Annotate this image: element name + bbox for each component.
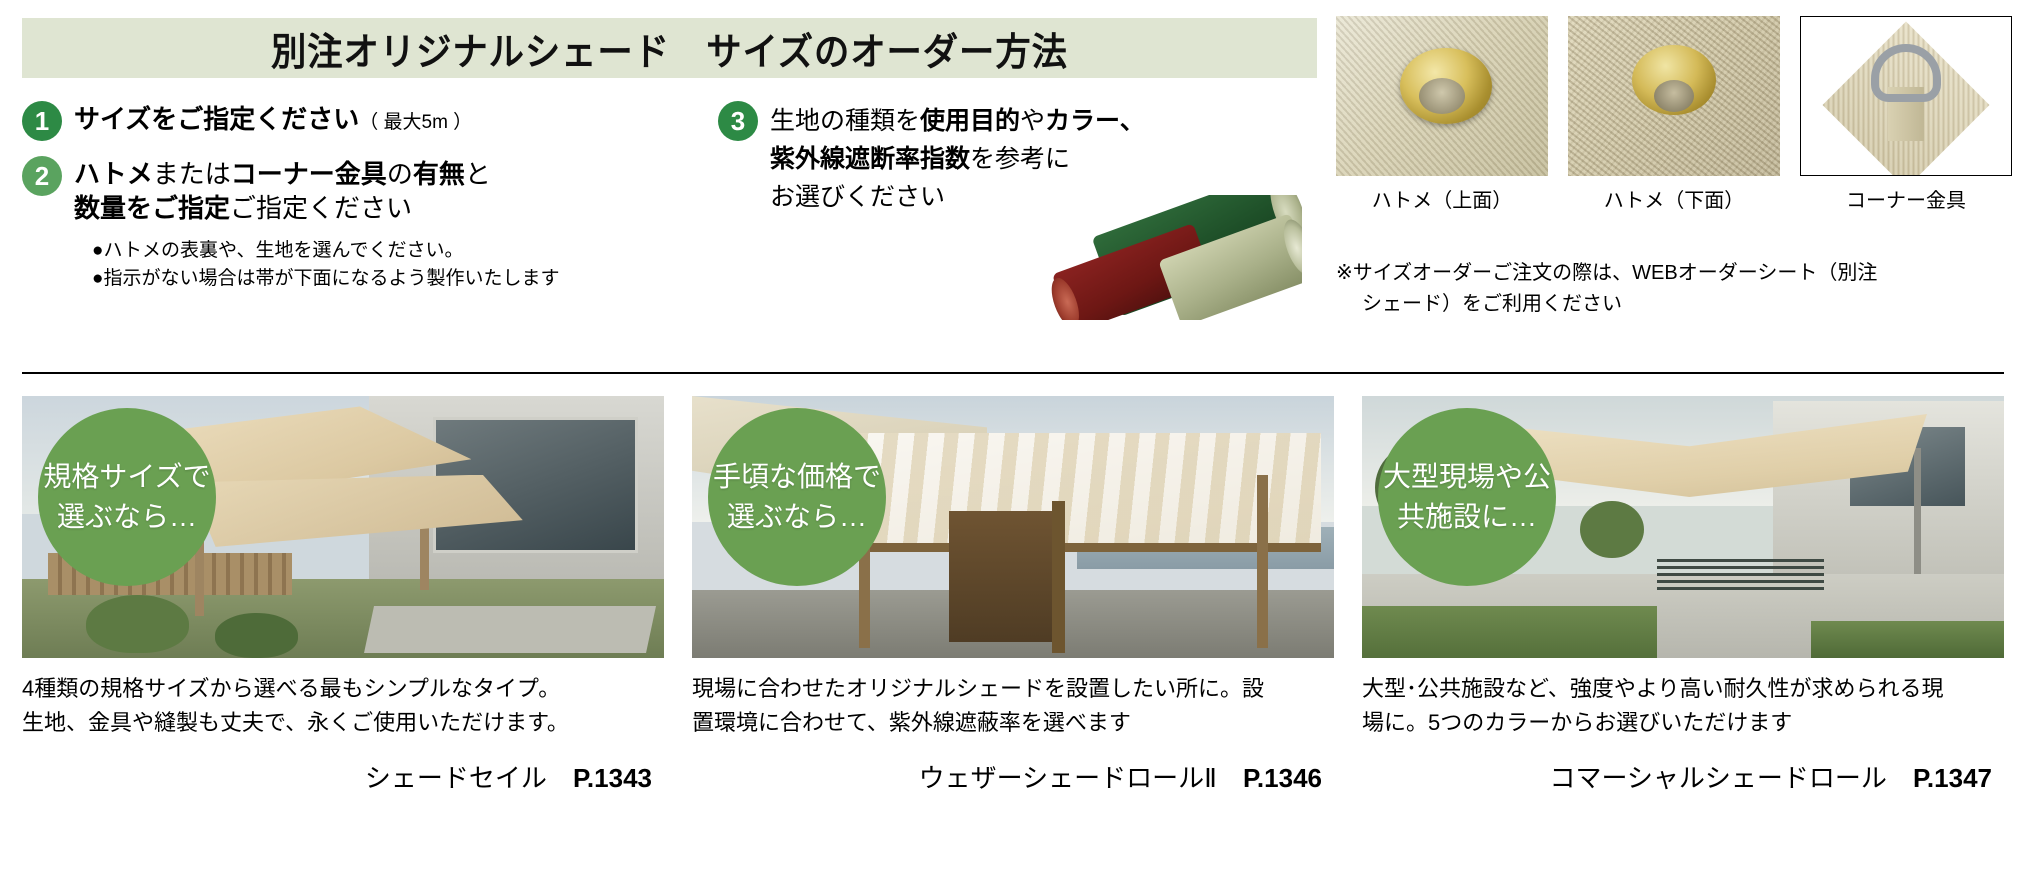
step-3-bold-b: カラー、	[1045, 107, 1145, 135]
hardware-photo-row: ハトメ（上面） ハトメ（下面）	[1336, 16, 2012, 213]
hardware-caption: コーナー金具	[1800, 184, 2012, 213]
product-badge-line-1: 大型現場や公	[1383, 457, 1551, 497]
grommet-bottom-photo	[1568, 16, 1780, 176]
product-description: 4種類の規格サイズから選べる最もシンプルなタイプ。 生地、金具や縫製も丈夫で、永…	[22, 672, 664, 740]
step-2-body: ハトメまたはコーナー金具の有無と 数量をご指定ご指定ください ●ハトメの表裏や、…	[74, 155, 582, 293]
product-desc-line-1: 現場に合わせたオリジナルシェードを設置したい所に。設	[692, 672, 1334, 706]
door-icon	[949, 511, 1052, 642]
corner-fitting-icon	[1801, 17, 2011, 175]
note-line-2: シェード）をご利用ください	[1336, 289, 2026, 320]
path-layer	[364, 606, 656, 653]
page-title-bar: 別注オリジナルシェード サイズのオーダー方法	[22, 18, 1317, 78]
product-card[interactable]: 手頃な価格で 選ぶなら… 現場に合わせたオリジナルシェードを設置したい所に。設 …	[692, 396, 1334, 795]
step-3-reg-b: や	[1020, 107, 1045, 135]
step-3-number-badge: 3	[718, 101, 758, 141]
product-description: 現場に合わせたオリジナルシェードを設置したい所に。設 置環境に合わせて、紫外線遮…	[692, 672, 1334, 740]
product-badge: 手頃な価格で 選ぶなら…	[708, 408, 886, 586]
product-name: コマーシャルシェードロール	[1549, 763, 1886, 793]
product-badge-line-1: 規格サイズで	[43, 457, 210, 497]
product-page-number[interactable]: P.1347	[1913, 763, 1992, 793]
step-2-reg-a: または	[153, 159, 231, 189]
product-badge: 大型現場や公 共施設に…	[1378, 408, 1556, 586]
hardware-caption: ハトメ（上面）	[1336, 184, 1548, 213]
product-badge: 規格サイズで 選ぶなら…	[38, 408, 216, 586]
hardware-caption: ハトメ（下面）	[1568, 184, 1780, 213]
grommet-hole-icon	[1419, 78, 1465, 114]
product-photo: 規格サイズで 選ぶなら…	[22, 396, 664, 658]
grass-layer	[1811, 621, 2004, 658]
product-card[interactable]: 大型現場や公 共施設に… 大型･公共施設など、強度やより高い耐久性が求められる現…	[1362, 396, 2004, 795]
order-sheet-note: ※サイズオーダーご注文の際は、WEBオーダーシート（別注 シェード）をご利用くだ…	[1336, 258, 2026, 320]
shrub-icon	[86, 595, 189, 653]
step-2-line2-bold: 数量をご指定	[74, 193, 230, 223]
step-3-line2-bold: 紫外線遮断率指数	[770, 145, 970, 173]
product-photo: 手頃な価格で 選ぶなら…	[692, 396, 1334, 658]
product-card-row: 規格サイズで 選ぶなら… 4種類の規格サイズから選べる最もシンプルなタイプ。 生…	[22, 396, 2004, 795]
step-2-reg-c: と	[465, 159, 491, 189]
catalog-page: 別注オリジナルシェード サイズのオーダー方法 1 サイズをご指定ください（ 最大…	[0, 0, 2026, 880]
grommet-top-icon	[1336, 16, 1548, 176]
product-desc-line-1: 大型･公共施設など、強度やより高い耐久性が求められる現	[1362, 672, 2004, 706]
grommet-top-photo	[1336, 16, 1548, 176]
product-desc-line-2: 置環境に合わせて、紫外線遮蔽率を選べます	[692, 706, 1334, 740]
pergola-beam	[1052, 501, 1065, 653]
product-photo: 大型現場や公 共施設に…	[1362, 396, 2004, 658]
product-footer[interactable]: ウェザーシェードロールⅡP.1346	[692, 758, 1334, 795]
product-desc-line-2: 生地、金具や縫製も丈夫で、永くご使用いただけます。	[22, 706, 664, 740]
step-3-reg-a: 生地の種類を	[770, 107, 920, 135]
step-3-bold-a: 使用目的	[920, 107, 1020, 135]
product-page-number[interactable]: P.1343	[573, 763, 652, 793]
steps-column-left: 1 サイズをご指定ください（ 最大5m ） 2 ハトメまたはコーナー金具の有無と…	[22, 100, 582, 307]
step-3-line2-reg: を参考に	[970, 145, 1070, 173]
step-2-bold-b: コーナー金具	[231, 159, 387, 189]
step-2-line-1: ハトメまたはコーナー金具の有無と	[74, 157, 582, 191]
step-2-bullet-2: ●指示がない場合は帯が下面になるよう製作いたします	[92, 265, 582, 293]
step-3-line-2: 紫外線遮断率指数を参考に	[770, 140, 1278, 178]
step-1: 1 サイズをご指定ください（ 最大5m ）	[22, 100, 582, 141]
grommet-bottom-icon	[1568, 16, 1780, 176]
product-name: ウェザーシェードロールⅡ	[919, 763, 1217, 793]
step-2-number-badge: 2	[22, 156, 62, 196]
note-line-1: ※サイズオーダーご注文の際は、WEBオーダーシート（別注	[1336, 258, 2026, 289]
product-footer[interactable]: シェードセイルP.1343	[22, 758, 664, 795]
product-card[interactable]: 規格サイズで 選ぶなら… 4種類の規格サイズから選べる最もシンプルなタイプ。 生…	[22, 396, 664, 795]
support-pole	[1914, 448, 1921, 574]
product-desc-line-1: 4種類の規格サイズから選べる最もシンプルなタイプ。	[22, 672, 664, 706]
step-1-bold-text: サイズをご指定ください	[74, 104, 359, 134]
step-2-bold-c: 有無	[413, 159, 465, 189]
step-1-number-badge: 1	[22, 101, 62, 141]
product-page-number[interactable]: P.1346	[1243, 763, 1322, 793]
step-1-note-text: （ 最大5m ）	[359, 112, 472, 133]
step-2-bullet-1: ●ハトメの表裏や、生地を選んでください。	[92, 237, 582, 265]
grommet-hole-icon	[1654, 80, 1694, 112]
bench-icon	[1657, 558, 1824, 589]
product-badge-line-1: 手頃な価格で	[713, 457, 881, 497]
step-2: 2 ハトメまたはコーナー金具の有無と 数量をご指定ご指定ください ●ハトメの表裏…	[22, 155, 582, 293]
step-1-body: サイズをご指定ください（ 最大5m ）	[74, 100, 582, 140]
product-footer[interactable]: コマーシャルシェードロールP.1347	[1362, 758, 2004, 795]
tree-icon	[1580, 501, 1644, 559]
section-divider	[22, 372, 2004, 374]
step-2-bullet-list: ●ハトメの表裏や、生地を選んでください。 ●指示がない場合は帯が下面になるよう製…	[92, 237, 582, 293]
product-badge-line-2: 共施設に…	[1397, 497, 1537, 537]
step-2-line2-reg: ご指定ください	[230, 193, 412, 223]
hardware-photo-item: ハトメ（上面）	[1336, 16, 1548, 213]
hardware-photo-item: ハトメ（下面）	[1568, 16, 1780, 213]
corner-fitting-photo	[1800, 16, 2012, 176]
step-2-bold-a: ハトメ	[74, 159, 153, 189]
pergola-beam	[1257, 475, 1268, 648]
hardware-photo-item: コーナー金具	[1800, 16, 2012, 213]
product-description: 大型･公共施設など、強度やより高い耐久性が求められる現 場に。5つのカラーからお…	[1362, 672, 2004, 740]
order-method-section: 別注オリジナルシェード サイズのオーダー方法 1 サイズをご指定ください（ 最大…	[0, 0, 2026, 380]
shrub-icon	[215, 613, 298, 658]
product-name: シェードセイル	[365, 763, 547, 793]
step-3-line-1: 生地の種類を使用目的やカラー、	[770, 102, 1278, 140]
product-badge-line-2: 選ぶなら…	[727, 497, 867, 537]
step-1-line-1: サイズをご指定ください（ 最大5m ）	[74, 102, 582, 140]
fabric-rolls-photo	[1040, 195, 1302, 320]
step-2-reg-b: の	[387, 159, 413, 189]
step-2-line-2: 数量をご指定ご指定ください	[74, 191, 582, 225]
product-desc-line-2: 場に。5つのカラーからお選びいただけます	[1362, 706, 2004, 740]
product-badge-line-2: 選ぶなら…	[57, 497, 197, 537]
grass-layer	[1362, 606, 1657, 658]
page-title: 別注オリジナルシェード サイズのオーダー方法	[271, 21, 1068, 76]
